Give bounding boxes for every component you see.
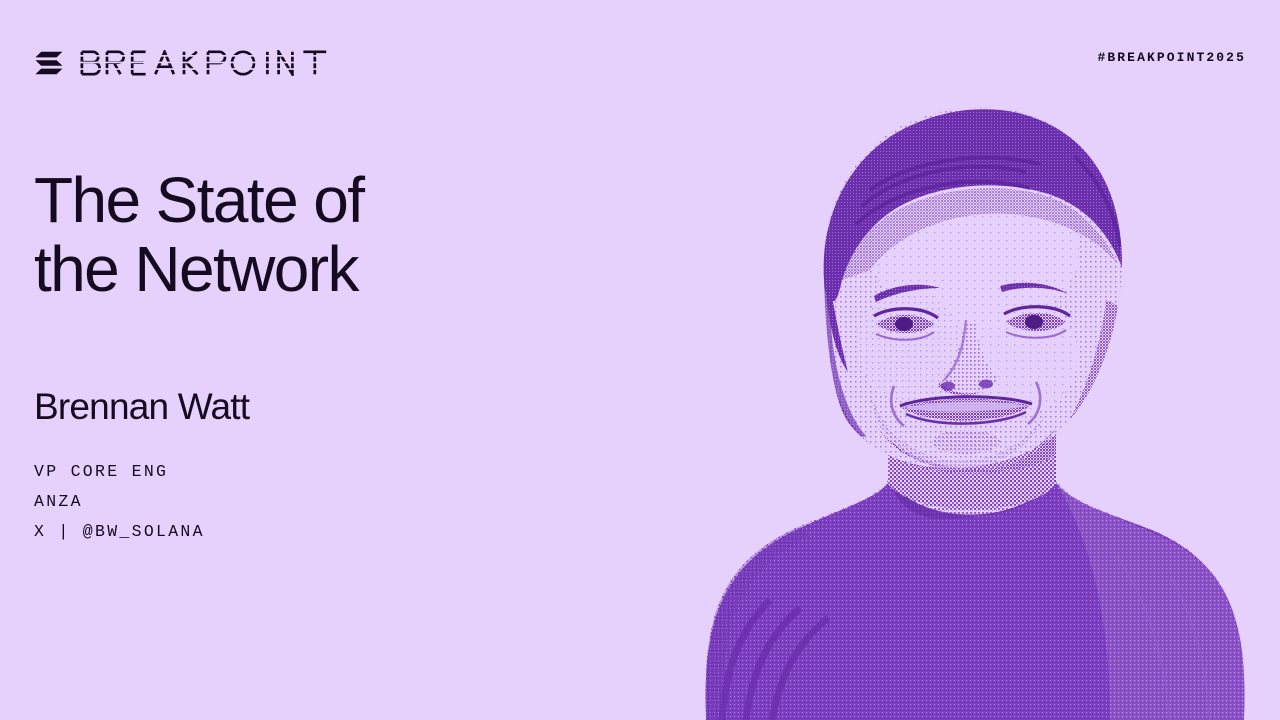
breakpoint-wordmark [80, 50, 328, 76]
speaker-role: VP CORE ENG [34, 457, 205, 487]
halftone-portrait-graphic [470, 56, 1260, 720]
speaker-organization: ANZA [34, 487, 205, 517]
speaker-social: X | @BW_SOLANA [34, 517, 205, 547]
speaker-portrait [470, 56, 1260, 720]
slide-title: The State of the Network [34, 166, 504, 304]
breakpoint-logo-lockup [35, 46, 328, 80]
solana-mark-icon [35, 51, 63, 75]
speaker-name: Brennan Watt [34, 386, 249, 428]
presentation-slide: #BREAKPOINT2025 The State of the Network… [0, 0, 1280, 720]
slide-title-line-1: The State of [34, 166, 504, 235]
slide-title-line-2: the Network [34, 235, 504, 304]
speaker-details: VP CORE ENG ANZA X | @BW_SOLANA [34, 457, 205, 547]
